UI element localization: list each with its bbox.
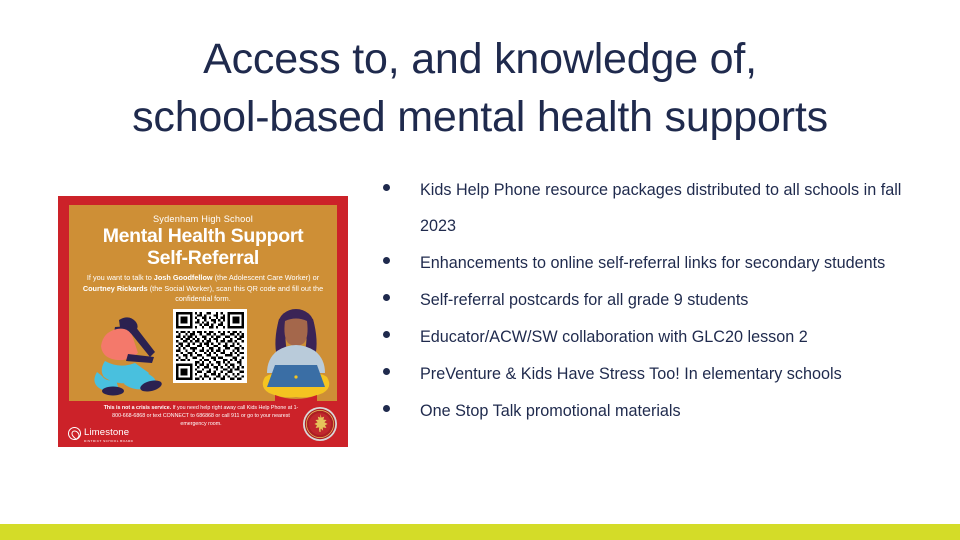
list-item-label: One Stop Talk promotional materials (420, 393, 908, 429)
list-item: Self-referral postcards for all grade 9 … (383, 282, 908, 318)
presentation-slide: Access to, and knowledge of, school-base… (0, 0, 960, 540)
bullet-dot-icon (383, 356, 420, 375)
poster-body-text: If you want to talk to Josh Goodfellow (… (81, 273, 325, 305)
limestone-logo-mark-icon (68, 427, 81, 440)
poster-fine-print-bold: This is not a crisis service. (104, 405, 171, 411)
list-item: Enhancements to online self-referral lin… (383, 245, 908, 281)
poster-body-prefix: If you want to talk to (87, 273, 154, 282)
qr-code[interactable] (173, 309, 247, 383)
bullet-dot-icon (383, 282, 420, 301)
poster-school-name: Sydenham High School (69, 214, 337, 224)
bullet-dot-icon (383, 172, 420, 191)
poster-footer: This is not a crisis service. If you nee… (58, 401, 348, 447)
list-item: Educator/ACW/SW collaboration with GLC20… (383, 319, 908, 355)
limestone-logo-wordmark: Limestone DISTRICT SCHOOL BOARD (84, 423, 133, 443)
list-item: PreVenture & Kids Have Stress Too! In el… (383, 356, 908, 392)
bullet-dot-icon (383, 319, 420, 338)
bullet-dot-icon (383, 393, 420, 412)
list-item-label: Kids Help Phone resource packages distri… (420, 172, 908, 244)
person-with-laptop-illustration-left (89, 310, 171, 396)
limestone-district-school-board-logo: Limestone DISTRICT SCHOOL BOARD (68, 423, 133, 443)
poster-headline-line1: Mental Health Support (69, 225, 337, 248)
limestone-logo-subtitle: DISTRICT SCHOOL BOARD (84, 440, 133, 443)
poster-headline-line2: Self-Referral (69, 247, 337, 270)
person-with-laptop-illustration-right (257, 305, 335, 401)
list-item: Kids Help Phone resource packages distri… (383, 172, 908, 244)
limestone-logo-name: Limestone (84, 427, 129, 438)
poster-contact-name-1: Josh Goodfellow (154, 273, 213, 282)
list-item: One Stop Talk promotional materials (383, 393, 908, 429)
list-item-label: Educator/ACW/SW collaboration with GLC20… (420, 319, 908, 355)
poster-body-mid-1: (the Adolescent Care Worker) or (213, 273, 320, 282)
poster-body-mid-2: (the Social Worker), scan this QR code a… (148, 284, 323, 304)
bullet-dot-icon (383, 245, 420, 264)
list-item-label: PreVenture & Kids Have Stress Too! In el… (420, 356, 908, 392)
list-item-label: Enhancements to online self-referral lin… (420, 245, 908, 281)
poster-gold-panel: Sydenham High School Mental Health Suppo… (69, 205, 337, 401)
poster-contact-name-2: Courtney Rickards (83, 284, 148, 293)
bullet-list: Kids Help Phone resource packages distri… (383, 172, 908, 430)
mental-health-poster-image: Sydenham High School Mental Health Suppo… (58, 196, 348, 447)
list-item-label: Self-referral postcards for all grade 9 … (420, 282, 908, 318)
page-title: Access to, and knowledge of, school-base… (60, 30, 900, 146)
school-crest-seal-icon (302, 406, 338, 442)
bottom-accent-bar (0, 524, 960, 540)
